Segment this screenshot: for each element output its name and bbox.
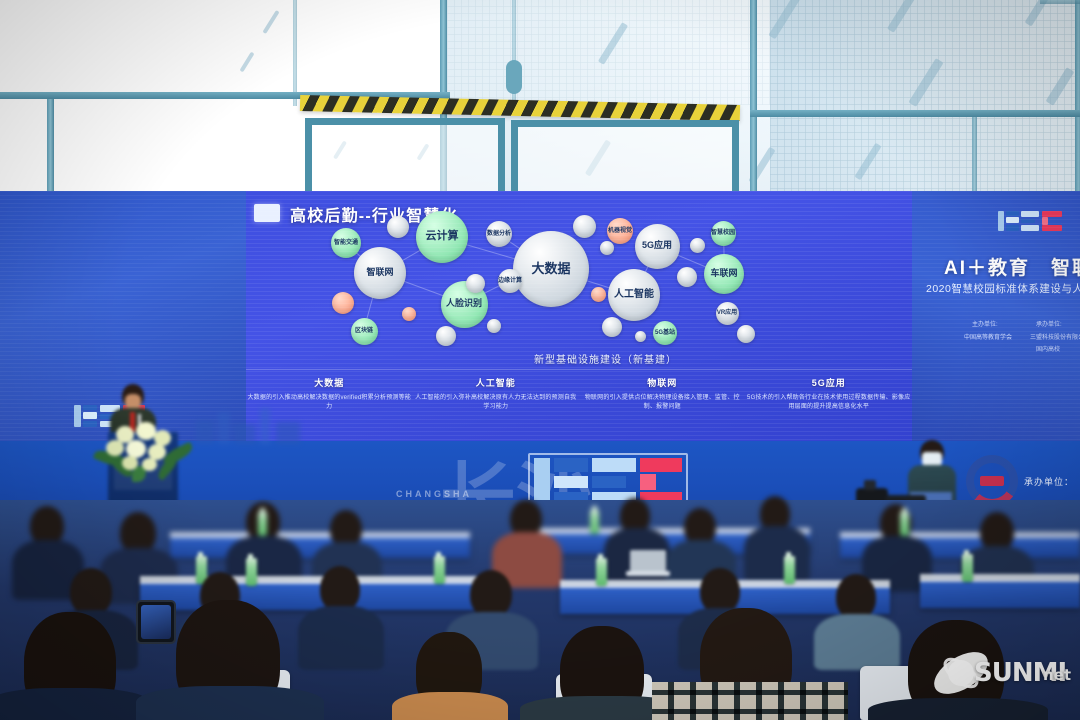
- slide-column-body: 物联网的引入提供点位解决物理设备接入管理、监管、控制、报警问题: [579, 394, 746, 413]
- bubble-node-unlabeled: [677, 267, 697, 287]
- bubble-node-unlabeled: [332, 292, 354, 314]
- bubble-label: 边缘计算: [498, 278, 522, 284]
- glass-curtain-wall: [0, 0, 1080, 200]
- slide-column: 5G应用5G技术的引入帮助各行业在技术使用过程数据传输、影像应用层面的提升提高信…: [746, 370, 913, 441]
- bubble-node-unlabeled: [602, 317, 622, 337]
- right-event-banner: AI＋教育 智联W 2020智慧校园标准体系建设与人工智 主办单位: 中国高等教…: [912, 191, 1080, 441]
- bubble-node-unlabeled: [487, 319, 501, 333]
- slide-column-heading: 大数据: [246, 376, 413, 389]
- host-value-right-1: 三盟科技股份有限公司: [1030, 332, 1080, 341]
- bubble-node-unlabeled: [635, 331, 646, 342]
- bubble-node: 大数据: [513, 231, 589, 307]
- bubble-node: 区块链: [351, 318, 378, 345]
- sunmi-net-suffix: net: [1043, 666, 1071, 684]
- bubble-node: 智能交通: [331, 228, 361, 258]
- bubble-label: 云计算: [426, 231, 459, 243]
- slide-column-body: 人工智能的引入弥补高校解决原有人力无法达到的预测自我学习能力: [413, 394, 580, 413]
- bubble-node: VR应用: [716, 302, 739, 325]
- laptop-icon: [626, 550, 670, 576]
- plaid-jacket: [652, 682, 848, 720]
- bubble-node-unlabeled: [466, 274, 485, 293]
- host-value-left: 中国高等教育学会: [964, 332, 1012, 341]
- heec-logo-icon: [998, 209, 1066, 233]
- bubble-node: 5G基站: [653, 321, 677, 345]
- bubble-node-unlabeled: [591, 287, 606, 302]
- right-banner-subhead: 2020智慧校园标准体系建设与人工智: [926, 281, 1080, 296]
- conference-photo: 第55届中国高等教育博览会(2020) THE 55TH HIGHER EDUC…: [0, 0, 1080, 720]
- slide-columns: 大数据大数据的引入推动高校解决数据的verified积累分析预测等能力人工智能人…: [246, 369, 912, 441]
- flower-arrangement: [92, 418, 196, 478]
- face-mask-icon: [922, 452, 942, 466]
- bubble-label: 数据分析: [487, 231, 511, 237]
- bubble-label: 5G应用: [642, 241, 672, 250]
- bubble-node: 边缘计算: [498, 269, 522, 293]
- bubble-label: VR应用: [717, 310, 737, 316]
- bubble-node: 车联网: [704, 254, 744, 294]
- slide-column: 人工智能人工智能的引入弥补高校解决原有人力无法达到的预测自我学习能力: [413, 370, 580, 441]
- right-banner-headline: AI＋教育 智联W: [944, 253, 1080, 280]
- slide-column-heading: 物联网: [579, 376, 746, 389]
- bubble-label: 5G基站: [655, 330, 675, 336]
- bubble-label: 机器视觉: [608, 228, 632, 234]
- bubble-label: 智能交通: [334, 240, 358, 246]
- infrastructure-caption: 新型基础设施建设（新基建）: [534, 351, 677, 366]
- slide-column: 物联网物联网的引入提供点位解决物理设备接入管理、监管、控制、报警问题: [579, 370, 746, 441]
- bubble-node-unlabeled: [690, 238, 705, 253]
- bubble-label: 人工智能: [614, 290, 654, 301]
- slide-column-body: 5G技术的引入帮助各行业在技术使用过程数据传输、影像应用层面的提升提高信息化水平: [746, 394, 913, 413]
- bubble-node: 人工智能: [608, 269, 660, 321]
- host-label-right: 承办单位:: [1036, 319, 1062, 328]
- bubble-node-unlabeled: [573, 215, 596, 238]
- host-label-left: 主办单位:: [972, 319, 998, 328]
- bubble-node: 智联网: [354, 247, 406, 299]
- bubble-node: 云计算: [416, 211, 468, 263]
- front-host-label: 承办单位：: [1024, 475, 1074, 488]
- bubble-node: 智慧校园: [711, 221, 736, 246]
- slide-column-heading: 人工智能: [413, 376, 580, 389]
- sunmi-watermark: SUNMI net: [930, 640, 1070, 706]
- bubble-label: 大数据: [531, 262, 570, 276]
- bubble-label: 智联网: [366, 268, 393, 277]
- projected-slide: 高校后勤--行业智慧化 大数据云计算智联网人脸识别人工智能5G应用车联网智能交通…: [246, 191, 912, 441]
- bubble-node-unlabeled: [402, 307, 416, 321]
- bubble-node-unlabeled: [600, 241, 614, 255]
- slide-column-heading: 5G应用: [746, 376, 913, 389]
- backdrop-cityscape: [190, 404, 310, 444]
- bubble-label: 智慧校园: [711, 230, 735, 236]
- audience-front-row: [0, 596, 1080, 720]
- bubble-label: 区块链: [355, 328, 373, 334]
- bubble-node: 数据分析: [486, 221, 512, 247]
- bubble-node: 5G应用: [635, 224, 680, 269]
- bubble-label: 人脸识别: [446, 299, 482, 308]
- bubble-node-unlabeled: [387, 216, 409, 238]
- bubble-node: 机器视觉: [607, 218, 633, 244]
- bubble-node-unlabeled: [436, 326, 456, 346]
- host-value-right-2: 国内高校: [1036, 344, 1060, 353]
- slide-bullet-marker: [254, 204, 280, 222]
- bubble-label: 车联网: [710, 269, 737, 278]
- bubble-node-unlabeled: [737, 325, 755, 343]
